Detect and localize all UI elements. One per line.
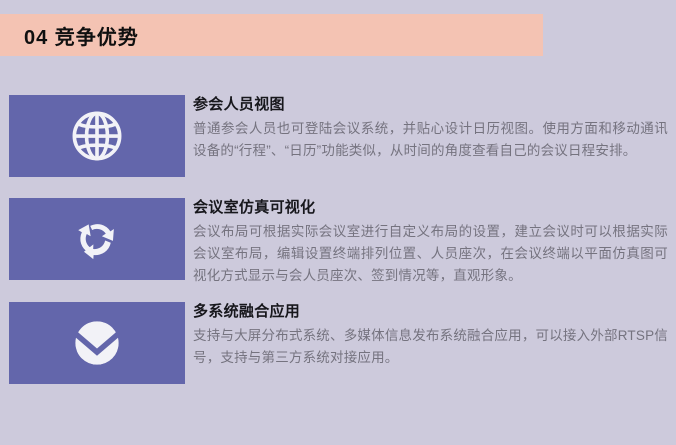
recycle-arrows-icon	[68, 210, 126, 268]
feature-text-2: 会议室仿真可视化 会议布局可根据实际会议室进行自定义布局的设置，建立会议时可以根…	[193, 198, 676, 287]
feature-text-1: 参会人员视图 普通参会人员也可登陆会议系统，并贴心设计日历视图。使用方面和移动通…	[193, 95, 676, 162]
feature-item-2: 会议室仿真可视化 会议布局可根据实际会议室进行自定义布局的设置，建立会议时可以根…	[0, 198, 676, 287]
feature-icon-box-2	[9, 198, 185, 280]
envelope-circle-icon	[68, 314, 126, 372]
section-title-banner: 04 竞争优势	[0, 14, 543, 56]
feature-body-3: 支持与大屏分布式系统、多媒体信息发布系统融合应用，可以接入外部RTSP信号，支持…	[193, 325, 668, 369]
feature-icon-box-3	[9, 302, 185, 384]
feature-body-2: 会议布局可根据实际会议室进行自定义布局的设置，建立会议时可以根据实际会议室布局，…	[193, 221, 668, 287]
feature-body-1: 普通参会人员也可登陆会议系统，并贴心设计日历视图。使用方面和移动通讯设备的“行程…	[193, 118, 668, 162]
globe-icon	[68, 107, 126, 165]
feature-heading-3: 多系统融合应用	[193, 302, 668, 322]
feature-text-3: 多系统融合应用 支持与大屏分布式系统、多媒体信息发布系统融合应用，可以接入外部R…	[193, 302, 676, 369]
feature-icon-box-1	[9, 95, 185, 177]
feature-heading-1: 参会人员视图	[193, 95, 668, 115]
feature-item-1: 参会人员视图 普通参会人员也可登陆会议系统，并贴心设计日历视图。使用方面和移动通…	[0, 95, 676, 177]
page-title: 04 竞争优势	[24, 21, 139, 50]
feature-heading-2: 会议室仿真可视化	[193, 198, 668, 218]
feature-item-3: 多系统融合应用 支持与大屏分布式系统、多媒体信息发布系统融合应用，可以接入外部R…	[0, 302, 676, 384]
feature-list: 参会人员视图 普通参会人员也可登陆会议系统，并贴心设计日历视图。使用方面和移动通…	[0, 88, 676, 384]
